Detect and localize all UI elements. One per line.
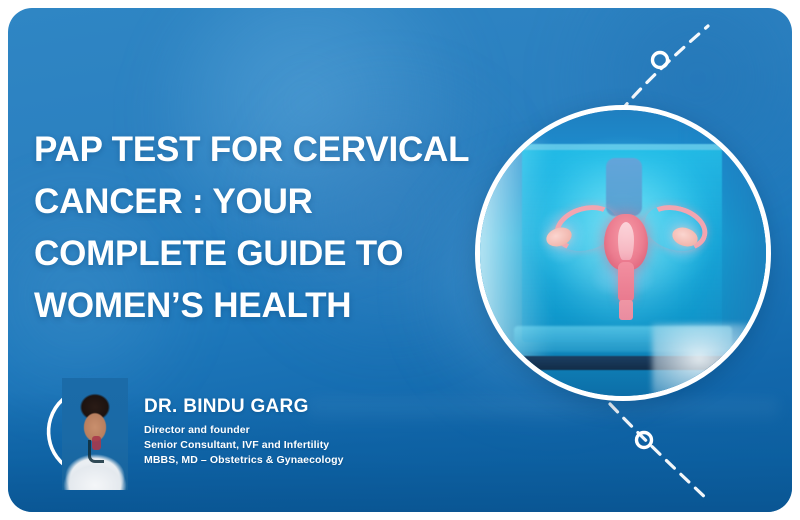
- hero-hand-blur: [652, 324, 770, 401]
- uterine-cavity-icon: [618, 222, 634, 260]
- vaginal-canal-icon: [619, 300, 633, 320]
- banner-canvas: PAP TEST FOR CERVICAL CANCER : YOUR COMP…: [0, 0, 800, 520]
- cervix-icon: [618, 262, 634, 302]
- headline-line-3: COMPLETE GUIDE TO: [34, 228, 474, 280]
- stethoscope-icon: [88, 440, 104, 463]
- doctor-byline: DR. BINDU GARG Director and founder Seni…: [44, 378, 344, 490]
- headline-line-1: PAP TEST FOR CERVICAL: [34, 124, 474, 176]
- arc-node-top-icon: [653, 53, 668, 68]
- arc-node-bottom-icon: [637, 433, 652, 448]
- hero-image-circle: [475, 105, 771, 401]
- doctor-name: DR. BINDU GARG: [144, 396, 344, 418]
- headline-line-4: WOMEN’S HEALTH: [34, 280, 474, 332]
- hero-image: [480, 110, 766, 396]
- dashed-arc-bottom-icon: [610, 404, 708, 500]
- doctor-credential-1: Director and founder: [144, 423, 344, 438]
- avatar-photo: [62, 378, 128, 490]
- spine-silhouette-icon: [606, 158, 642, 216]
- doctor-info: DR. BINDU GARG Director and founder Seni…: [144, 396, 344, 472]
- doctor-credential-3: MBBS, MD – Obstetrics & Gynaecology: [144, 453, 344, 468]
- doctor-credential-2: Senior Consultant, IVF and Infertility: [144, 438, 344, 453]
- avatar: [44, 378, 130, 490]
- dashed-arc-top-icon: [620, 26, 708, 112]
- background-streak: [308, 400, 778, 426]
- page-title: PAP TEST FOR CERVICAL CANCER : YOUR COMP…: [34, 124, 474, 332]
- banner-card: PAP TEST FOR CERVICAL CANCER : YOUR COMP…: [8, 8, 792, 512]
- headline-line-2: CANCER : YOUR: [34, 176, 474, 228]
- avatar-portrait-image: [62, 378, 128, 490]
